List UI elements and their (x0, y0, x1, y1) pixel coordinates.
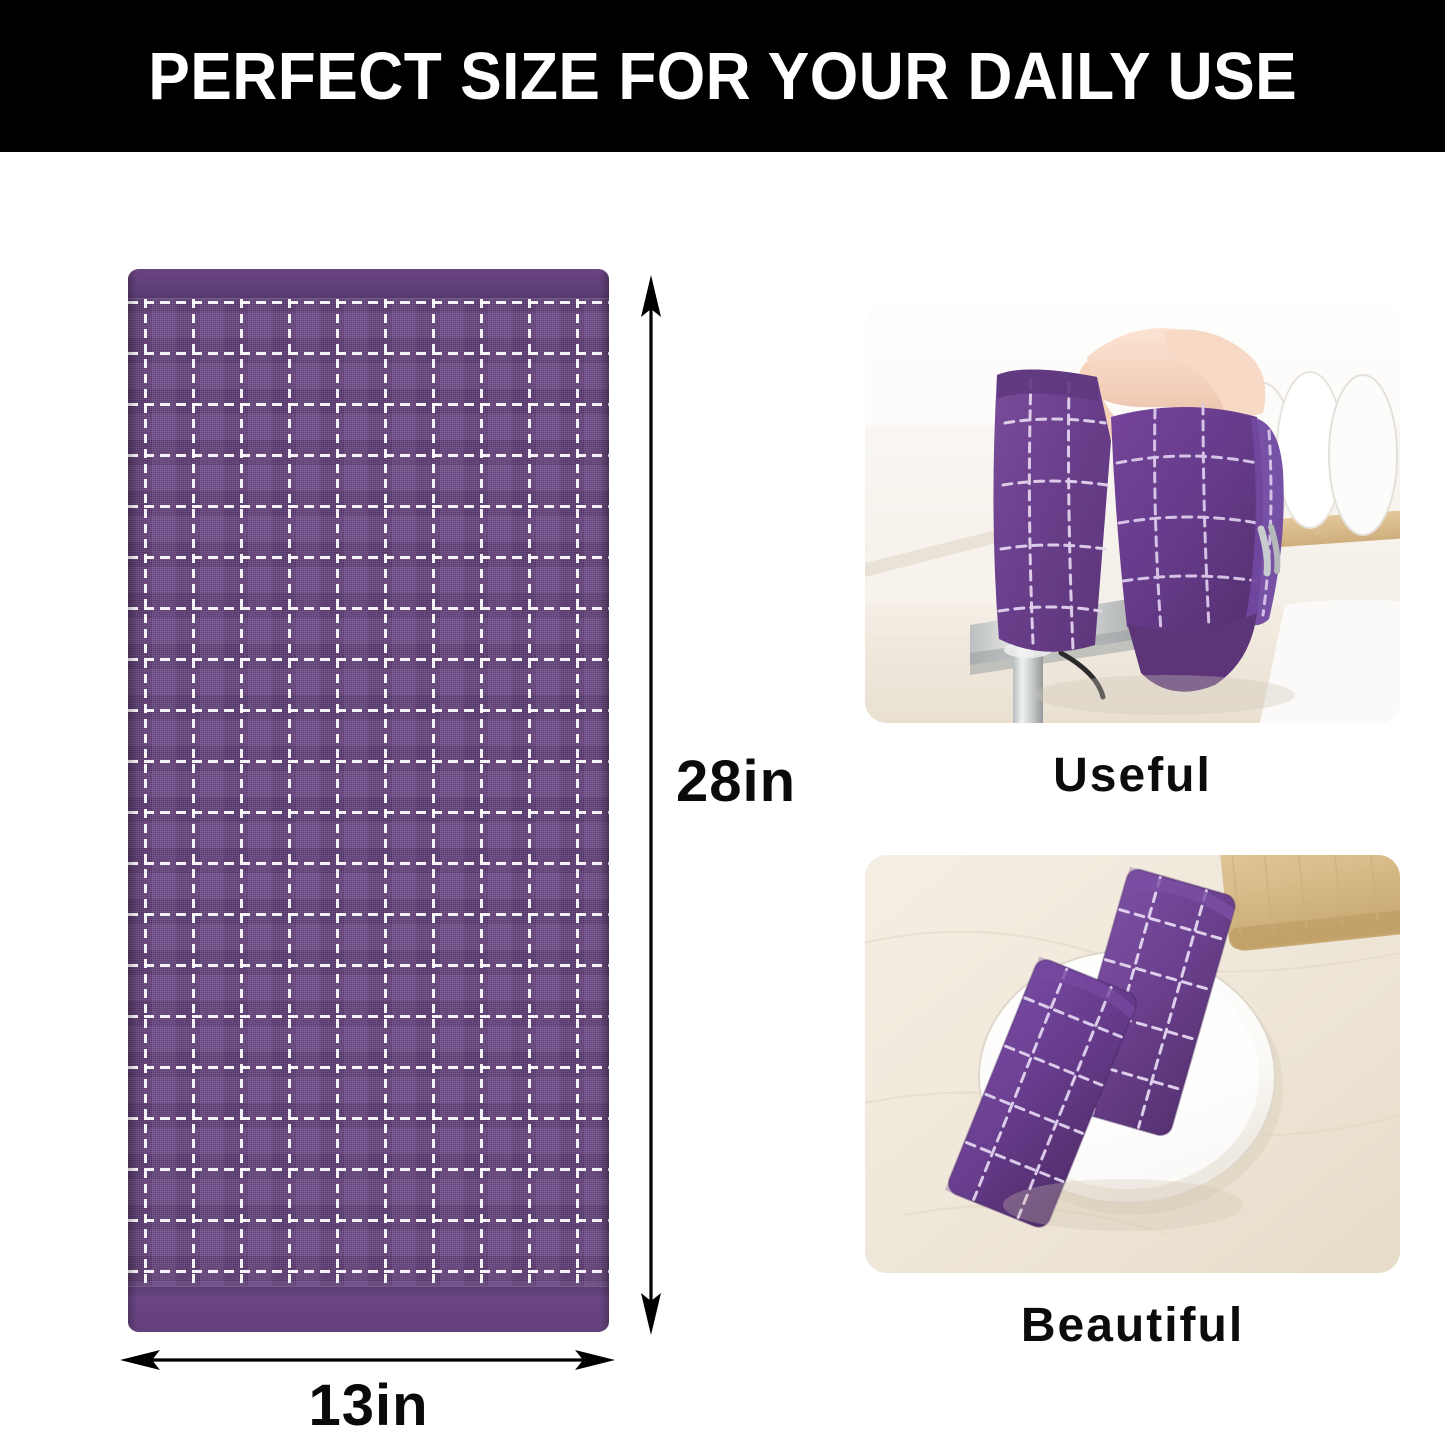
photo-useful (865, 305, 1400, 723)
towel-gridline-vertical (480, 299, 483, 1286)
height-dimension-arrow (636, 275, 666, 1335)
towel-gridline-horizontal (128, 964, 609, 967)
infographic-page: PERFECT SIZE FOR YOUR DAILY USE (0, 0, 1445, 1432)
towel-gridline-horizontal (128, 454, 609, 457)
width-dimension-arrow (120, 1345, 615, 1375)
caption-beautiful: Beautiful (865, 1298, 1400, 1353)
towel-edge-right (600, 269, 609, 1332)
towel-gridline-vertical (240, 299, 243, 1286)
towel-gridline-horizontal (128, 811, 609, 814)
towel-gridline-horizontal (128, 352, 609, 355)
caption-useful: Useful (865, 748, 1400, 803)
plate-towels-photo-illustration (865, 855, 1400, 1273)
towel-gridline-horizontal (128, 862, 609, 865)
towel-gridline-horizontal (128, 403, 609, 406)
towel-gridline-vertical (192, 299, 195, 1286)
product-towel-figure (128, 269, 609, 1332)
towel-gridline-horizontal (128, 1117, 609, 1120)
towel-gridline-horizontal (128, 1270, 609, 1273)
towel-gridline-horizontal (128, 1219, 609, 1222)
header-banner: PERFECT SIZE FOR YOUR DAILY USE (0, 0, 1445, 152)
towel-hem-top (128, 269, 609, 299)
towel-gridline-horizontal (128, 301, 609, 304)
towel-gridline-vertical (144, 299, 147, 1286)
towel-gridline-horizontal (128, 658, 609, 661)
double-arrow-horizontal-icon (120, 1345, 615, 1375)
towel-gridline-horizontal (128, 505, 609, 508)
towel-gridline-horizontal (128, 913, 609, 916)
towel-gridline-vertical (384, 299, 387, 1286)
width-dimension-label: 13in (128, 1372, 609, 1432)
towel-gridline-vertical (576, 299, 579, 1286)
height-dimension-label: 28in (676, 748, 796, 815)
page-title: PERFECT SIZE FOR YOUR DAILY USE (148, 43, 1297, 110)
towel-grid-overlay (128, 299, 609, 1286)
scene-folded-towels-on-plate (865, 855, 1400, 1273)
towel-gridline-horizontal (128, 760, 609, 763)
towel-edge-left (128, 269, 137, 1332)
towel-gridline-horizontal (128, 1066, 609, 1069)
scene-kitchen-sink (865, 305, 1400, 723)
photo-beautiful (865, 855, 1400, 1273)
towel-gridline-horizontal (128, 607, 609, 610)
double-arrow-vertical-icon (636, 275, 666, 1335)
towel-gridline-vertical (528, 299, 531, 1286)
towel-gridline-horizontal (128, 1168, 609, 1171)
towel-gridline-vertical (336, 299, 339, 1286)
sink-towel-photo-illustration (865, 305, 1400, 723)
towel-gridline-horizontal (128, 1015, 609, 1018)
towel-gridline-horizontal (128, 556, 609, 559)
towel-gridline-horizontal (128, 709, 609, 712)
towel-gridline-vertical (432, 299, 435, 1286)
towel-gridline-vertical (288, 299, 291, 1286)
towel-hem-bottom (128, 1286, 609, 1332)
